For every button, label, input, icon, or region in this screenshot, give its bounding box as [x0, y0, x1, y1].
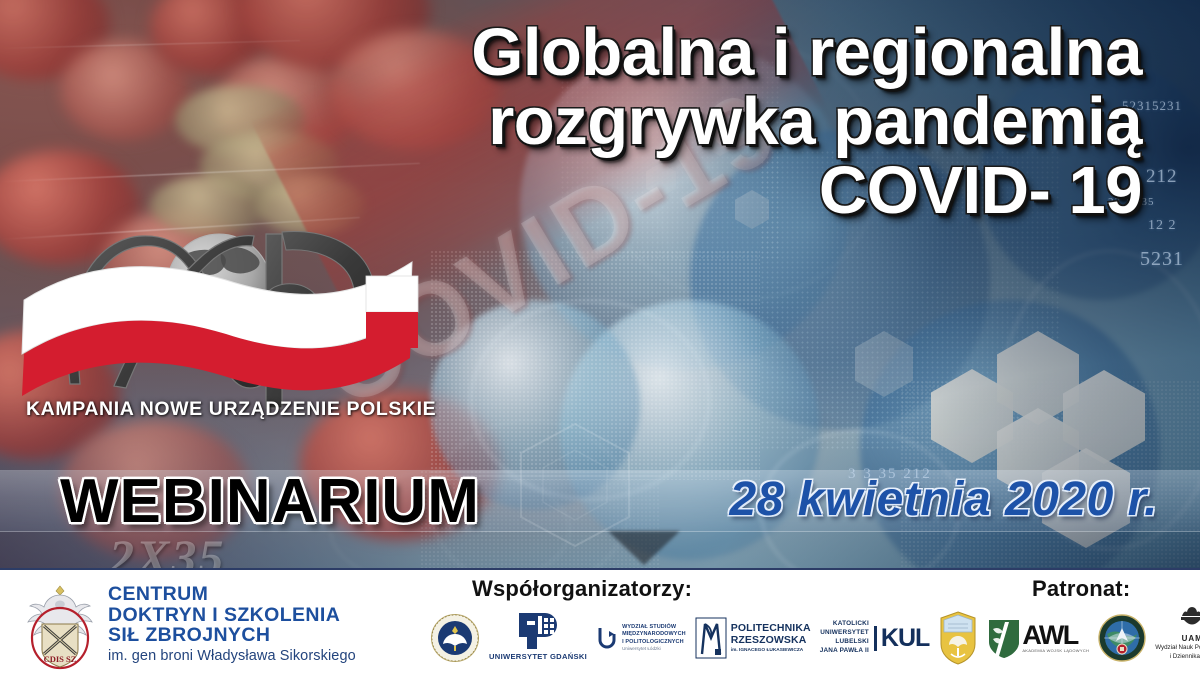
event-date: 28 kwietnia 2020 r. [730, 472, 1158, 527]
coorganizers-heading: Współorganizatorzy: [472, 576, 692, 602]
awl-shield-icon [987, 617, 1021, 659]
digital-readout: 12 2 [1148, 218, 1177, 234]
kul-label: KATOLICKI UNIWERSYTET LUBELSKI JANA PAWŁ… [820, 620, 869, 656]
awl-mark: AWL [1022, 623, 1089, 647]
logo-uniwersytet-lodzki-wsmip: WYDZIAŁ STUDIÓW MIĘDZYNARODOWYCH I POLIT… [596, 607, 686, 669]
ug-mark-icon [511, 607, 565, 649]
footer-bar: CDIS SZ CENTRUM DOKTRYN I SZKOLENIA SIŁ … [0, 568, 1200, 674]
kul-label-2: UNIWERSYTET [820, 629, 869, 636]
uam-mark: UAM [1182, 634, 1200, 643]
title-line-1: Globalna i regionalna [282, 18, 1142, 87]
digital-readout: 5231 [1140, 248, 1184, 271]
prz-sublabel: im. IGNACEGO ŁUKASIEWICZA [731, 648, 811, 653]
organizer-patron-line: im. gen broni Władysława Sikorskiego [108, 649, 356, 664]
logo-politechnika-rzeszowska: POLITECHNIKA RZESZOWSKA im. IGNACEGO ŁUK… [695, 607, 811, 669]
military-emblem-icon [1098, 614, 1146, 662]
organizer-line-3: SIŁ ZBROJNYCH [108, 625, 356, 645]
uam-crest-icon [1177, 607, 1200, 633]
organizer-name: CENTRUM DOKTRYN I SZKOLENIA SIŁ ZBROJNYC… [108, 584, 356, 664]
uam-label-1: Wydział Nauk Politycznych [1155, 644, 1200, 651]
golden-crest-icon [938, 610, 978, 666]
uam-label-2: i Dziennikarstwa [1170, 653, 1200, 660]
kul-label-4: JANA PAWŁA II [820, 647, 869, 654]
academy-seal-icon [430, 613, 480, 663]
partner-logo-strip: UNIWERSYTET GDAŃSKI WYDZIAŁ STUDIÓW MIĘD… [430, 604, 1192, 672]
logo-akademia-wojsk-ladowych: AWL AKADEMIA WOJSK LĄDOWYCH [987, 607, 1089, 669]
ul-mark-icon [596, 626, 618, 650]
cdis-crest-icon: CDIS SZ [22, 576, 98, 672]
logo-wojsko-polskie-crest [938, 607, 978, 669]
digital-readout: 212 [1146, 166, 1178, 188]
ul-label: WYDZIAŁ STUDIÓW MIĘDZYNARODOWYCH I POLIT… [622, 624, 686, 652]
prz-mark-icon [695, 616, 727, 660]
crest-label: CDIS SZ [44, 654, 77, 664]
awl-sublabel: AKADEMIA WOJSK LĄDOWYCH [1022, 648, 1089, 653]
ul-label-2: MIĘDZYNARODOWYCH [622, 631, 686, 637]
logo-military-emblem [1098, 607, 1146, 669]
polish-flag-patch [366, 276, 418, 348]
kul-mark: KUL [874, 626, 929, 651]
ul-label-3: I POLITOLOGICZNYCH [622, 639, 684, 645]
ug-label: UNIWERSYTET GDAŃSKI [489, 652, 587, 661]
logo-katolicki-uniwersytet-lubelski: KATOLICKI UNIWERSYTET LUBELSKI JANA PAWŁ… [820, 607, 930, 669]
kul-label-3: LUBELSKI [835, 638, 869, 645]
kul-label-1: KATOLICKI [833, 620, 869, 627]
organizer-line-2: DOKTRYN I SZKOLENIA [108, 605, 356, 625]
prz-label-1: POLITECHNIKA [731, 622, 811, 634]
prz-label-2: RZESZOWSKA [731, 634, 807, 646]
uam-label: Wydział Nauk Politycznych i Dziennikarst… [1155, 644, 1200, 661]
decorative-wedge [608, 531, 680, 565]
patronage-heading: Patronat: [1032, 576, 1130, 602]
logo-uniwersytet-gdanski: UNIWERSYTET GDAŃSKI [489, 607, 587, 669]
page-title: Globalna i regionalna rozgrywka pandemią… [282, 18, 1142, 225]
organizer-line-1: CENTRUM [108, 584, 356, 604]
organizer-block: CDIS SZ CENTRUM DOKTRYN I SZKOLENIA SIŁ … [22, 576, 356, 672]
webinar-label: WEBINARIUM [60, 466, 480, 537]
campaign-logo-caption: KAMPANIA NOWE URZĄDZENIE POLSKIE [26, 398, 436, 421]
title-line-2: rozgrywka pandemią [282, 87, 1142, 156]
ul-label-1: WYDZIAŁ STUDIÓW [622, 624, 676, 630]
campaign-logo: 2X35 [14, 198, 464, 430]
logo-akademia-sztuki-wojennej [430, 607, 480, 669]
awl-text: AWL AKADEMIA WOJSK LĄDOWYCH [1022, 623, 1089, 652]
campaign-logo-graphic [14, 198, 464, 430]
logo-uam-wnpid: UAM Wydział Nauk Politycznych i Dziennik… [1155, 607, 1200, 669]
prz-label: POLITECHNIKA RZESZOWSKA im. IGNACEGO ŁUK… [731, 623, 811, 653]
webinar-poster: COVID-19 52315231 212 23 12 35 12 2 5231… [0, 0, 1200, 674]
ul-sublabel: Uniwersytet Łódzki [622, 646, 686, 652]
